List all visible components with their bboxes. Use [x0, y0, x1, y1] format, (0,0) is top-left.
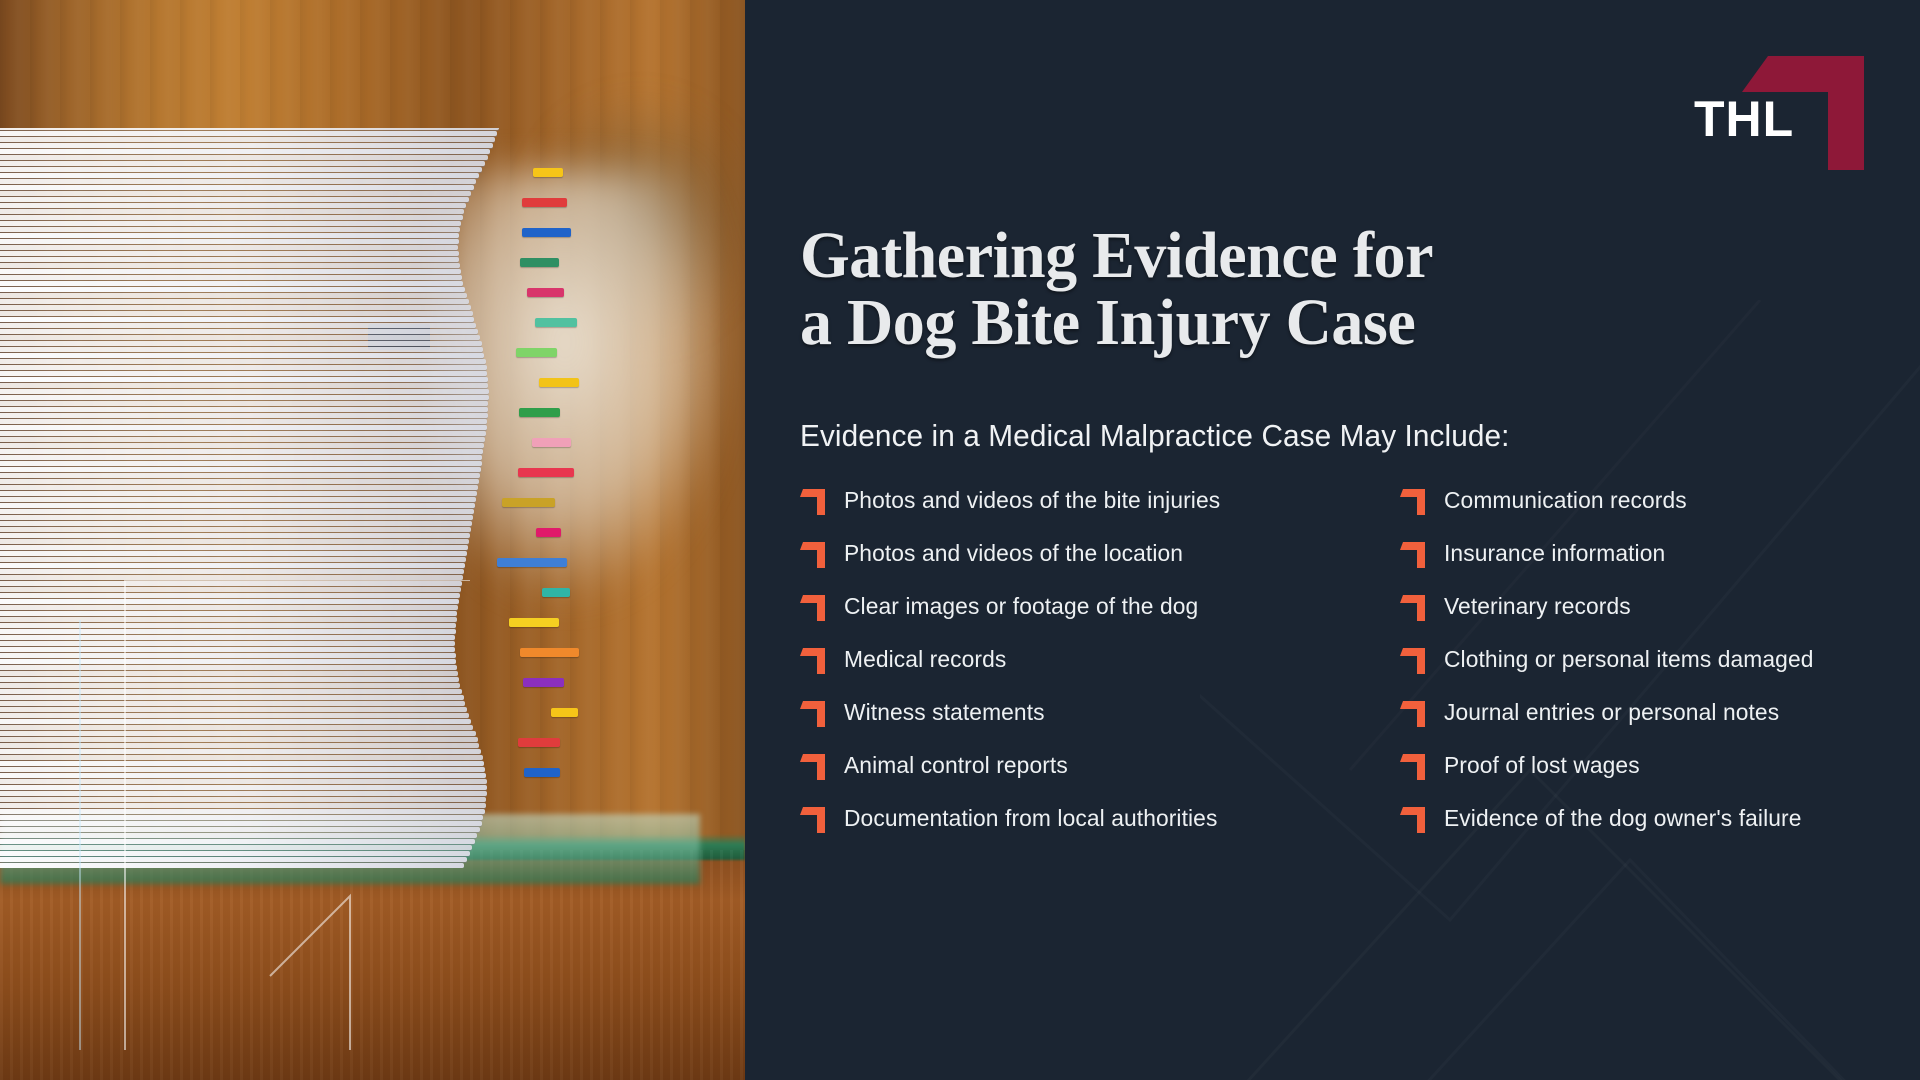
evidence-list-item: Proof of lost wages — [1400, 750, 1920, 803]
evidence-list-item-label: Photos and videos of the bite injuries — [844, 485, 1220, 515]
evidence-list-item: Photos and videos of the bite injuries — [800, 485, 1400, 538]
corner-arrow-bullet-icon — [800, 592, 826, 622]
infographic-canvas: THL Gathering Evidence for a Dog Bite In… — [0, 0, 1920, 1080]
evidence-list-item: Communication records — [1400, 485, 1920, 538]
evidence-list-item-label: Medical records — [844, 644, 1006, 674]
evidence-list-item: Journal entries or personal notes — [1400, 697, 1920, 750]
evidence-list-item: Animal control reports — [800, 750, 1400, 803]
corner-arrow-bullet-icon — [1400, 751, 1426, 781]
evidence-list-item-label: Insurance information — [1444, 538, 1665, 568]
evidence-list-left-column: Photos and videos of the bite injuriesPh… — [800, 485, 1400, 856]
evidence-list-item: Documentation from local authorities — [800, 803, 1400, 856]
page-title-line-1: Gathering Evidence for — [800, 219, 1433, 292]
corner-arrow-bullet-icon — [1400, 486, 1426, 516]
document-stack — [0, 128, 580, 868]
page-subtitle: Evidence in a Medical Malpractice Case M… — [800, 418, 1510, 454]
corner-arrow-bullet-icon — [1400, 698, 1426, 728]
evidence-list-item-label: Witness statements — [844, 697, 1045, 727]
evidence-list-item: Witness statements — [800, 697, 1400, 750]
evidence-list-item: Medical records — [800, 644, 1400, 697]
corner-arrow-bullet-icon — [1400, 645, 1426, 675]
corner-arrow-bullet-icon — [800, 486, 826, 516]
evidence-list-item-label: Documentation from local authorities — [844, 803, 1217, 833]
logo-wordmark: THL — [1694, 94, 1794, 144]
evidence-list-item-label: Journal entries or personal notes — [1444, 697, 1779, 727]
evidence-list-item-label: Communication records — [1444, 485, 1687, 515]
corner-arrow-bullet-icon — [1400, 592, 1426, 622]
evidence-list-item-label: Animal control reports — [844, 750, 1068, 780]
evidence-list-item: Clear images or footage of the dog — [800, 591, 1400, 644]
evidence-list-item-label: Evidence of the dog owner's failure — [1444, 803, 1801, 833]
evidence-list-item-label: Clear images or footage of the dog — [844, 591, 1198, 621]
evidence-list: Photos and videos of the bite injuriesPh… — [800, 485, 1880, 856]
corner-arrow-bullet-icon — [800, 751, 826, 781]
corner-arrow-bullet-icon — [800, 645, 826, 675]
corner-arrow-bullet-icon — [1400, 539, 1426, 569]
evidence-list-item: Clothing or personal items damaged — [1400, 644, 1920, 697]
evidence-list-item: Photos and videos of the location — [800, 538, 1400, 591]
evidence-list-item: Veterinary records — [1400, 591, 1920, 644]
content-panel: THL Gathering Evidence for a Dog Bite In… — [745, 0, 1920, 1080]
thl-logo[interactable]: THL — [1736, 42, 1864, 170]
evidence-list-item-label: Photos and videos of the location — [844, 538, 1183, 568]
page-title: Gathering Evidence for a Dog Bite Injury… — [800, 222, 1433, 357]
hero-photo — [0, 0, 745, 1080]
corner-arrow-bullet-icon — [800, 539, 826, 569]
evidence-list-item-label: Proof of lost wages — [1444, 750, 1640, 780]
evidence-list-item: Insurance information — [1400, 538, 1920, 591]
wooden-desk-surface — [0, 850, 745, 1080]
evidence-list-right-column: Communication recordsInsurance informati… — [1400, 485, 1920, 856]
evidence-list-item: Evidence of the dog owner's failure — [1400, 803, 1920, 856]
page-title-line-2: a Dog Bite Injury Case — [800, 289, 1433, 356]
corner-arrow-bullet-icon — [1400, 804, 1426, 834]
evidence-list-item-label: Veterinary records — [1444, 591, 1631, 621]
corner-arrow-bullet-icon — [800, 804, 826, 834]
evidence-list-item-label: Clothing or personal items damaged — [1444, 644, 1813, 674]
corner-arrow-bullet-icon — [800, 698, 826, 728]
